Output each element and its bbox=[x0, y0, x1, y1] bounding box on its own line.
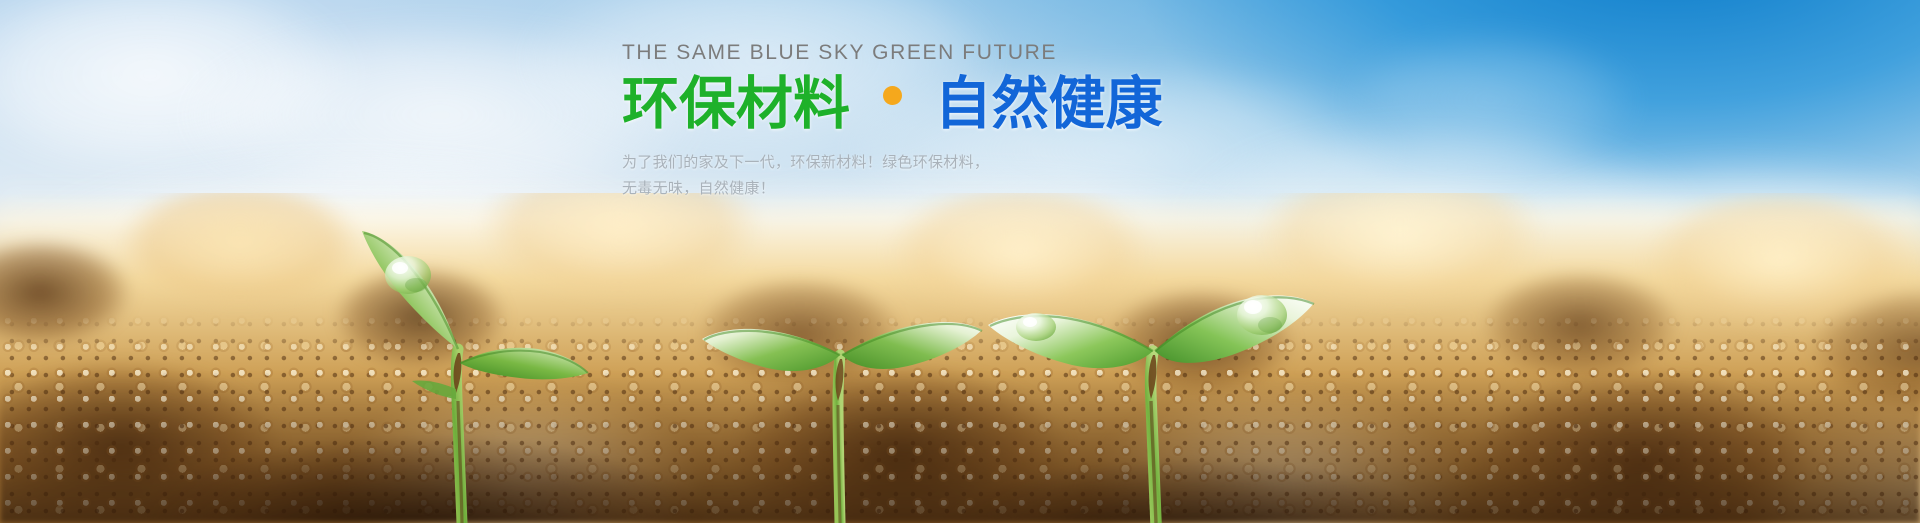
cloud-puff-icon bbox=[1340, 30, 1640, 170]
banner-copy-block: THE SAME BLUE SKY GREEN FUTURE 环保材料 自然健康… bbox=[622, 40, 1322, 203]
banner-subtitle: 为了我们的家及下一代，环保新材料！绿色环保材料， 无毒无味，自然健康！ bbox=[622, 150, 1322, 203]
subtitle-line-2: 无毒无味，自然健康！ bbox=[622, 176, 1322, 202]
banner-headline: 环保材料 自然健康 bbox=[622, 73, 1322, 137]
headline-green-text: 环保材料 bbox=[622, 72, 850, 136]
cloud-puff-icon bbox=[0, 0, 360, 180]
sprout-center bbox=[690, 223, 990, 523]
subtitle-line-1: 为了我们的家及下一代，环保新材料！绿色环保材料， bbox=[622, 150, 1322, 176]
orange-dot-separator-icon bbox=[883, 86, 902, 105]
eco-material-hero-banner: THE SAME BLUE SKY GREEN FUTURE 环保材料 自然健康… bbox=[0, 0, 1920, 523]
headline-blue-text: 自然健康 bbox=[935, 72, 1163, 136]
banner-eyebrow-tagline: THE SAME BLUE SKY GREEN FUTURE bbox=[622, 40, 1322, 66]
sprout-right bbox=[970, 223, 1330, 523]
sprout-left bbox=[330, 203, 660, 523]
